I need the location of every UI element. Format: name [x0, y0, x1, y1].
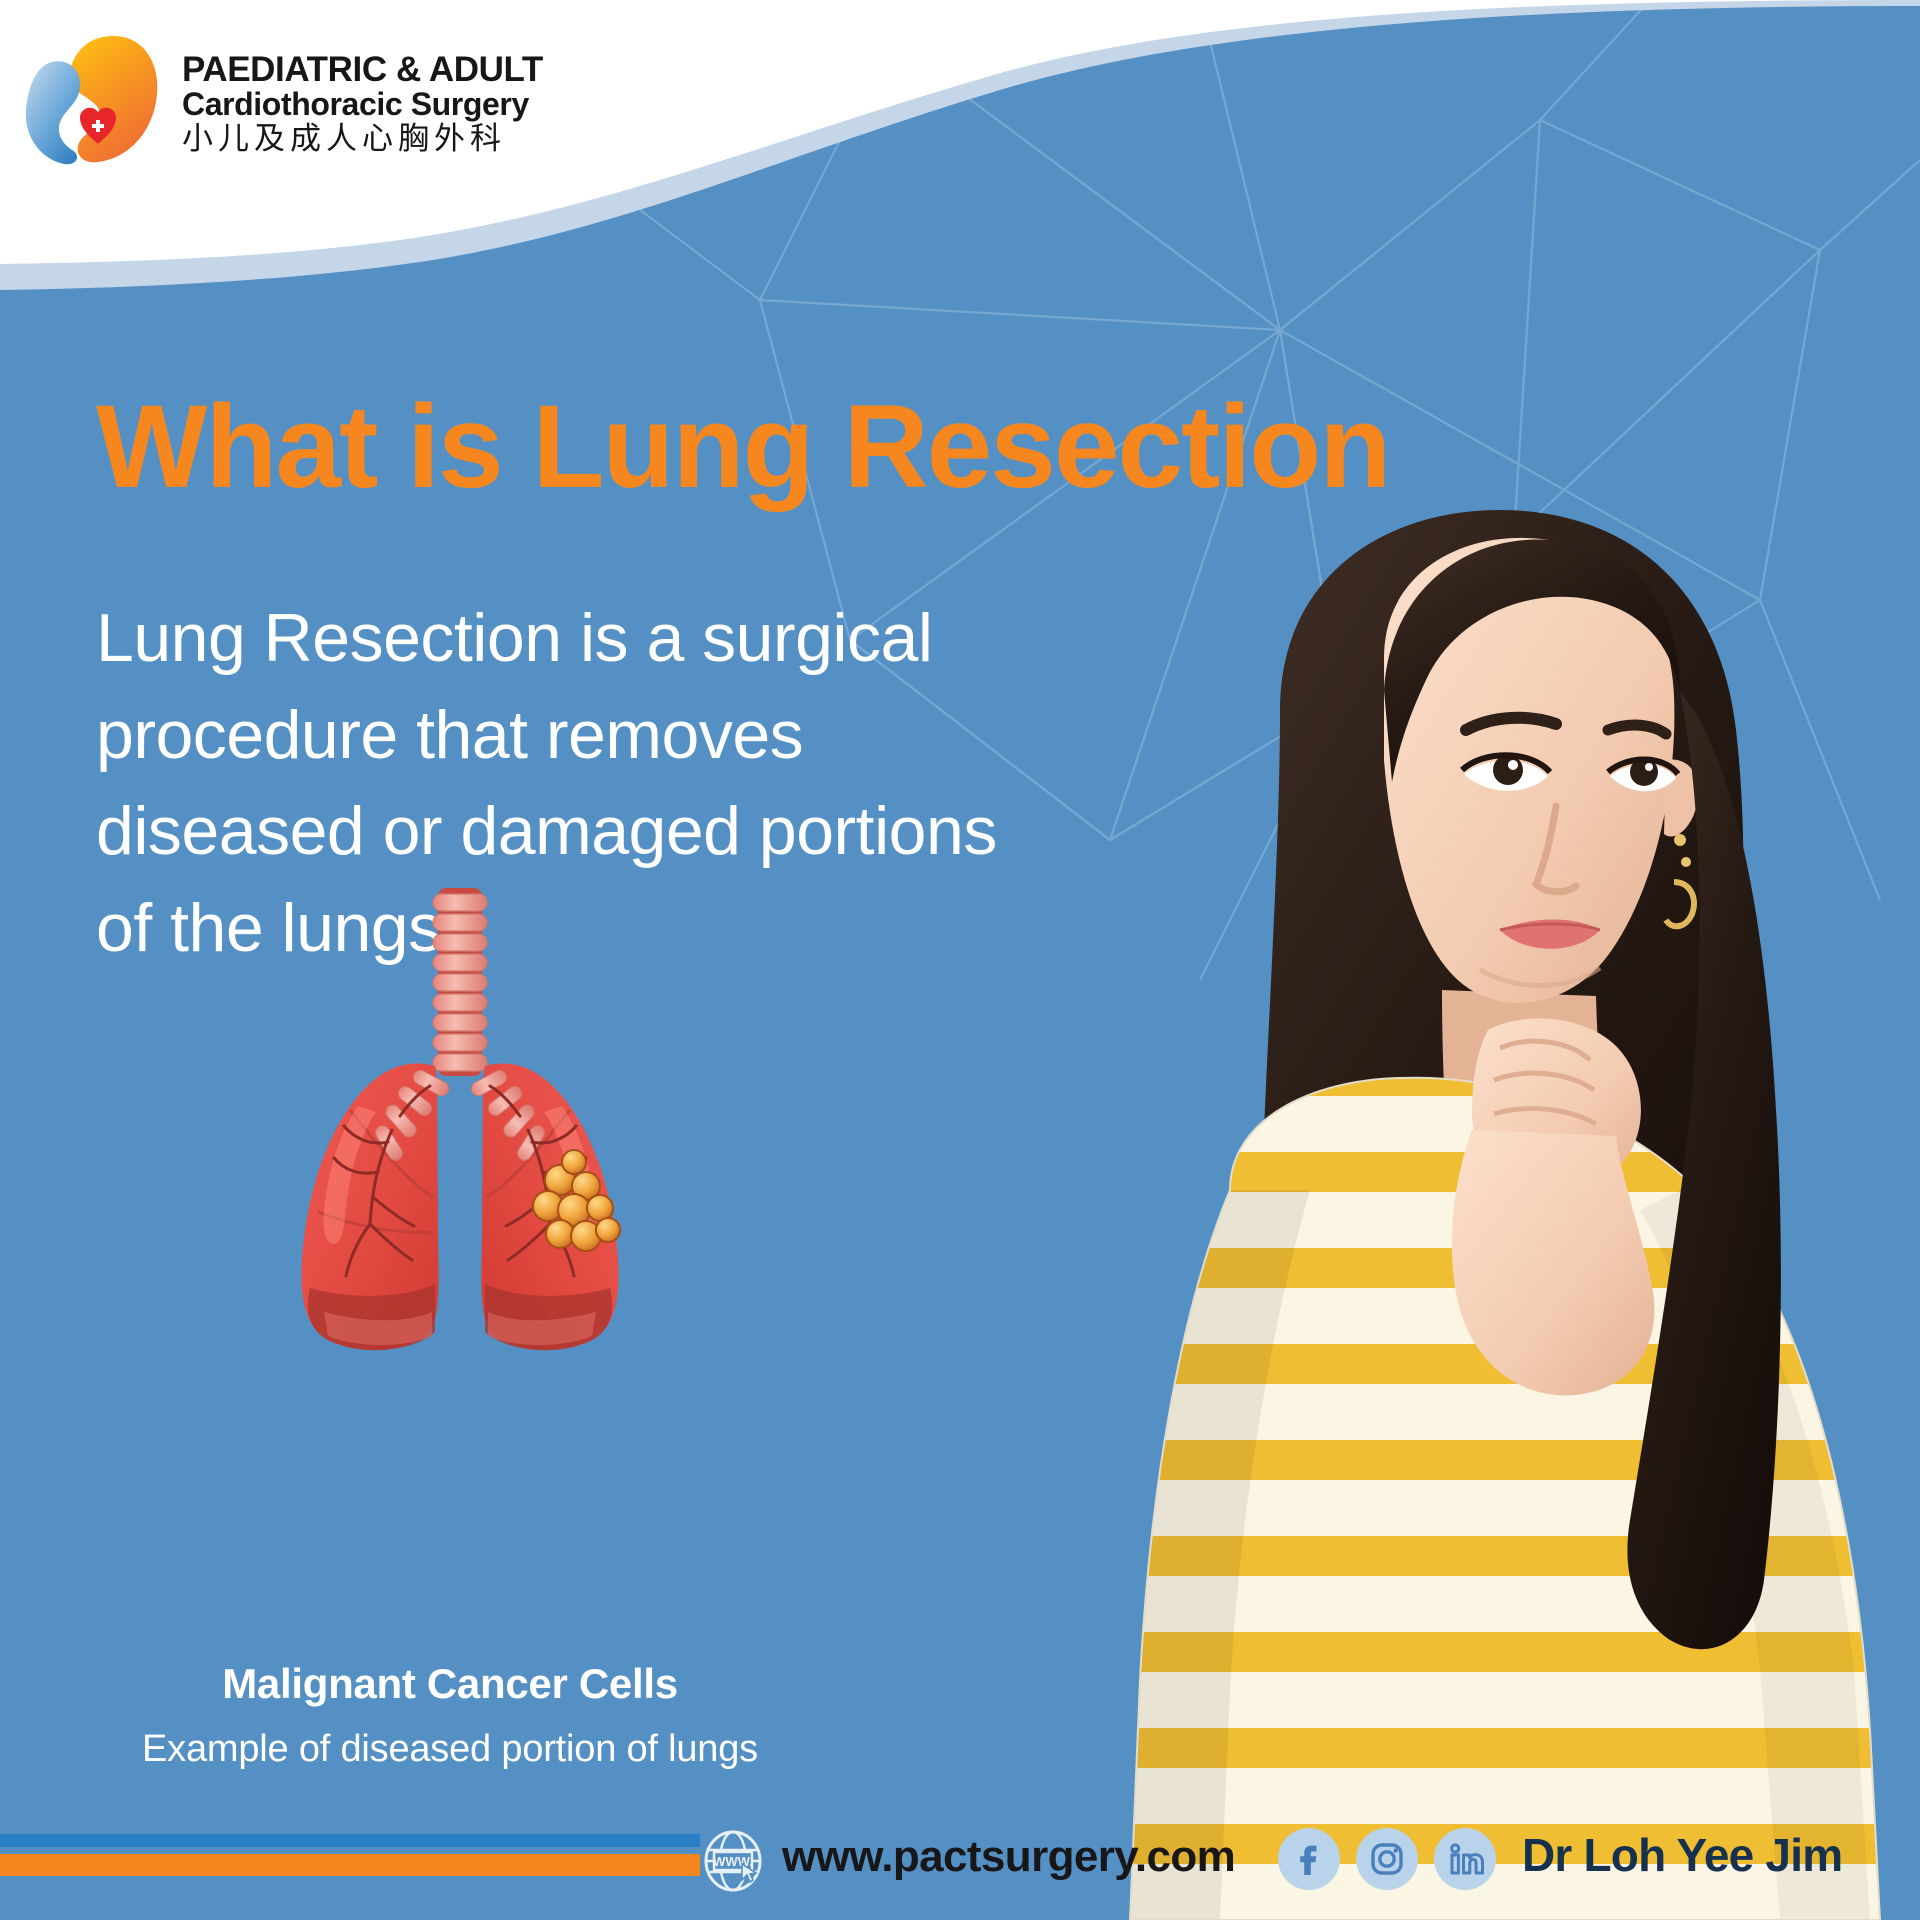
facebook-icon[interactable]: [1278, 1828, 1340, 1890]
website-url[interactable]: www.pactsurgery.com: [782, 1832, 1235, 1882]
logo-line-3-chinese: 小儿及成人心胸外科: [182, 122, 543, 157]
logo-line-1: PAEDIATRIC & ADULT: [182, 52, 543, 88]
instagram-icon[interactable]: [1356, 1828, 1418, 1890]
infographic-canvas: PAEDIATRIC & ADULT Cardiothoracic Surger…: [0, 0, 1920, 1920]
logo-line-2: Cardiothoracic Surgery: [182, 87, 543, 122]
social-links: [1278, 1828, 1496, 1890]
doctor-name: Dr Loh Yee Jim: [1522, 1828, 1842, 1882]
illustration-caption-subtitle: Example of diseased portion of lungs: [0, 1728, 900, 1771]
logo-text-block: PAEDIATRIC & ADULT Cardiothoracic Surger…: [182, 46, 543, 157]
woman-thinking-photo: [980, 430, 1920, 1920]
footer-bar: WWW. www.pactsurgery.com: [0, 1800, 1920, 1920]
lungs-illustration: [230, 880, 690, 1370]
mother-child-heart-logo-icon: [18, 26, 168, 176]
brand-logo[interactable]: PAEDIATRIC & ADULT Cardiothoracic Surger…: [18, 26, 543, 176]
globe-www-icon: WWW.: [702, 1830, 764, 1892]
footer-blue-accent-bar: [0, 1834, 700, 1847]
footer-orange-accent-bar: [0, 1854, 700, 1876]
linkedin-icon[interactable]: [1434, 1828, 1496, 1890]
illustration-caption-title: Malignant Cancer Cells: [0, 1660, 900, 1708]
